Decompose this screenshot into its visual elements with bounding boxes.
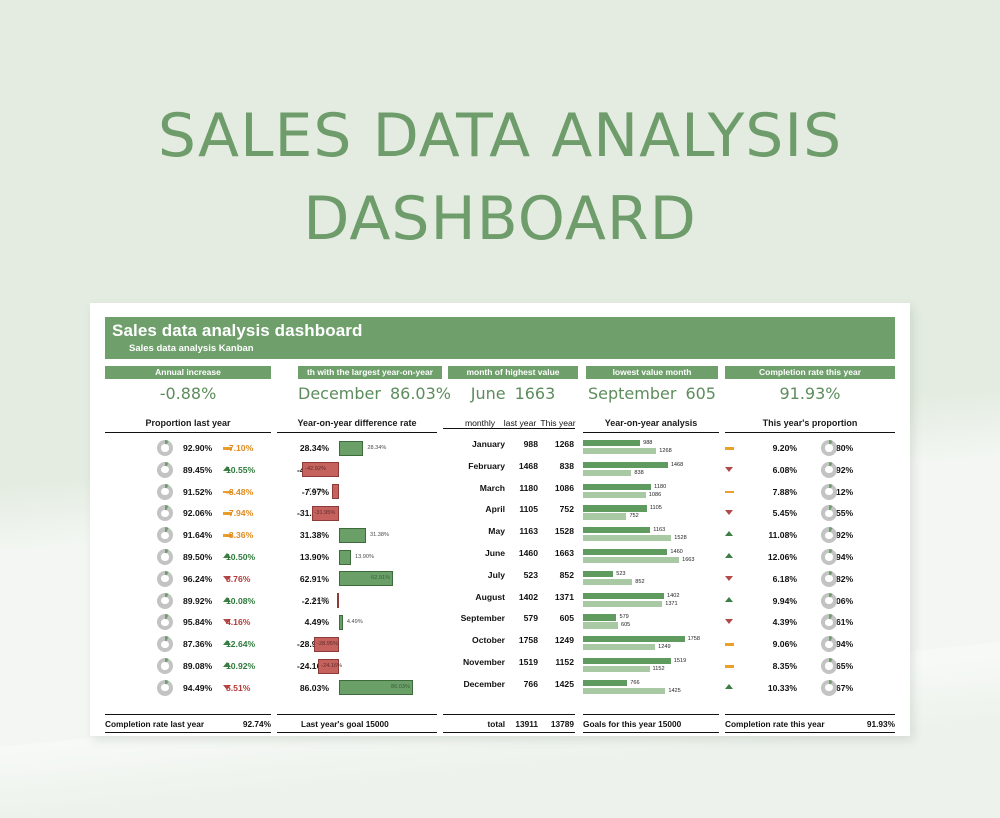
yoy-analysis-bar-label: 1180 — [654, 484, 666, 490]
yoy-analysis-bar-this — [583, 557, 679, 563]
this-year-proportion-value: 6.18% — [749, 574, 797, 584]
yoy-analysis-bar-label: 752 — [629, 513, 638, 519]
proportion-last-year-delta: 4.16% — [226, 617, 250, 627]
kpi-label-4: Completion rate this year — [725, 366, 895, 379]
yoy-analysis-bar-this — [583, 492, 646, 498]
yoy-analysis-bar-last — [583, 614, 616, 620]
footer-cell-completion-last-year: Completion rate last year92.74% — [105, 714, 271, 733]
kpi-label-3: lowest value month — [586, 366, 718, 379]
proportion-last-year-value: 96.24% — [183, 574, 212, 584]
proportion-last-year-value: 89.92% — [183, 596, 212, 606]
this-year-proportion-value: 6.08% — [749, 465, 797, 475]
yoy-analysis-bar-last — [583, 462, 668, 468]
proportion-last-year-value: 92.90% — [183, 443, 212, 453]
kpi-card-4: Completion rate this year91.93% — [725, 366, 895, 403]
table-cell-last-year: 766 — [505, 679, 538, 689]
table-cell-month: December — [443, 679, 505, 689]
flat-dash-icon — [725, 447, 734, 450]
kpi-row: Annual increase-0.88%th with the largest… — [105, 366, 895, 411]
kpi-value-1: December86.03% — [298, 384, 442, 403]
trend-down-icon — [725, 619, 733, 624]
yoy-analysis-bar-this — [583, 470, 631, 476]
footer-completion-this-year-value: 91.93% — [835, 719, 895, 729]
yoy-analysis-bar-label: 1468 — [671, 462, 683, 468]
table-cell-last-year: 1519 — [505, 657, 538, 667]
footer-last-year-goal-label: Last year's goal 15000 — [301, 719, 389, 729]
panel-monthly-table: monthlylast yearThis year January9881268… — [443, 417, 575, 695]
yoy-analysis-bar-label: 838 — [634, 470, 643, 476]
kpi-card-0: Annual increase-0.88% — [105, 366, 271, 403]
panel-proportion-last-year: Proportion last year 92.90%-7.10%89.45%1… — [105, 417, 271, 699]
proportion-last-year-delta: 3.76% — [226, 574, 250, 584]
page-title-line-1: SALES DATA ANALYSIS — [0, 95, 1000, 178]
donut-gauge-this-year — [821, 440, 837, 456]
yoy-rate-bar-label: 28.34% — [367, 441, 386, 456]
dashboard-header: Sales data analysis dashboard Sales data… — [105, 317, 895, 359]
yoy-analysis-bar-label: 605 — [621, 622, 630, 628]
table-cell-this-year: 605 — [541, 613, 574, 623]
donut-gauge-this-year — [821, 658, 837, 674]
donut-gauge-this-year — [821, 680, 837, 696]
yoy-rate-bar-label: -7.97% — [306, 484, 324, 499]
table-cell-last-year: 1163 — [505, 526, 538, 536]
trend-up-icon — [725, 553, 733, 558]
yoy-rate-value: 86.03% — [277, 683, 329, 693]
yoy-rate-value: 31.38% — [277, 530, 329, 540]
flat-dash-icon — [725, 665, 734, 668]
table-cell-last-year: 523 — [505, 570, 538, 580]
donut-gauge-this-year — [821, 484, 837, 500]
panel-title-this-year-proportion: This year's proportion — [725, 417, 895, 433]
dashboard-card: Sales data analysis dashboard Sales data… — [90, 303, 910, 736]
panel-title-proportion-last-year: Proportion last year — [105, 417, 271, 433]
table-cell-month: May — [443, 526, 505, 536]
yoy-analysis-bar-label: 766 — [630, 680, 639, 686]
donut-gauge-last-year — [157, 614, 173, 630]
yoy-analysis-bar-label: 1086 — [649, 492, 661, 498]
footer-cell-completion-this-year: Completion rate this year91.93% — [725, 714, 895, 733]
donut-gauge-this-year — [821, 462, 837, 478]
footer-total-label: total — [443, 719, 505, 729]
this-year-proportion-value: 7.88% — [749, 487, 797, 497]
proportion-last-year-delta: 10.50% — [226, 552, 255, 562]
yoy-analysis-bar-this — [583, 579, 632, 585]
yoy-analysis-bar-this — [583, 666, 650, 672]
yoy-analysis-bar-label: 852 — [635, 579, 644, 585]
yoy-analysis-bar-last — [583, 680, 627, 686]
dashboard-heading: Sales data analysis dashboard — [112, 320, 895, 342]
yoy-analysis-bar-this — [583, 688, 665, 694]
table-cell-this-year: 1425 — [541, 679, 574, 689]
monthly-table-header: last year — [501, 417, 539, 429]
table-cell-this-year: 838 — [541, 461, 574, 471]
trend-up-icon — [725, 684, 733, 689]
table-cell-month: September — [443, 613, 505, 623]
proportion-last-year-delta: 5.51% — [226, 683, 250, 693]
yoy-rate-bar — [339, 550, 351, 565]
yoy-analysis-bar-label: 1371 — [665, 601, 677, 607]
donut-gauge-last-year — [157, 484, 173, 500]
yoy-rate-bar-label: -24.16% — [321, 659, 342, 674]
panel-title-yoy-analysis: Year-on-year analysis — [583, 417, 719, 433]
table-cell-last-year: 579 — [505, 613, 538, 623]
proportion-last-year-value: 89.50% — [183, 552, 212, 562]
this-year-proportion-value: 11.08% — [749, 530, 797, 540]
kpi-card-3: lowest value monthSeptember605 — [586, 366, 718, 403]
yoy-rate-value: 4.49% — [277, 617, 329, 627]
this-year-proportion-value: 9.94% — [749, 596, 797, 606]
page-title: SALES DATA ANALYSIS DASHBOARD — [0, 95, 1000, 261]
yoy-rate-value: 13.90% — [277, 552, 329, 562]
panel-yoy-analysis: Year-on-year analysis 988126814688381180… — [583, 417, 719, 699]
donut-gauge-this-year — [821, 636, 837, 652]
yoy-analysis-bar-this — [583, 513, 626, 519]
this-year-proportion-value: 8.35% — [749, 661, 797, 671]
donut-gauge-this-year — [821, 571, 837, 587]
kpi-card-1: th with the largest year-on-yearDecember… — [298, 366, 442, 403]
yoy-rate-value: 28.34% — [277, 443, 329, 453]
kpi-value-4: 91.93% — [725, 384, 895, 403]
yoy-rate-bar-label: -2.21% — [311, 593, 329, 608]
trend-up-icon — [725, 531, 733, 536]
proportion-last-year-delta: -8.36% — [226, 530, 253, 540]
yoy-rate-bar-label: 13.90% — [355, 550, 374, 565]
yoy-rate-bar — [339, 615, 343, 630]
yoy-analysis-bar-last — [583, 527, 650, 533]
proportion-last-year-delta: 12.64% — [226, 639, 255, 649]
kpi-label-1: th with the largest year-on-year — [298, 366, 442, 379]
table-cell-this-year: 852 — [541, 570, 574, 580]
yoy-analysis-bar-last — [583, 571, 613, 577]
footer-completion-last-year-value: 92.74% — [215, 719, 271, 729]
donut-gauge-this-year — [821, 549, 837, 565]
footer-cell-last-year-goal: Last year's goal 15000 — [277, 714, 437, 733]
yoy-analysis-bar-label: 579 — [619, 614, 628, 620]
yoy-rate-bar — [339, 441, 363, 456]
donut-gauge-last-year — [157, 680, 173, 696]
donut-gauge-last-year — [157, 462, 173, 478]
this-year-proportion-value: 4.39% — [749, 617, 797, 627]
table-cell-month: June — [443, 548, 505, 558]
yoy-analysis-bar-this — [583, 644, 655, 650]
yoy-rate-bar-label: -28.95% — [317, 637, 338, 652]
table-cell-last-year: 1180 — [505, 483, 538, 493]
yoy-analysis-bar-label: 1758 — [688, 636, 700, 642]
flat-dash-icon — [725, 491, 734, 494]
footer-total-last-year: 13911 — [505, 719, 538, 729]
trend-up-icon — [725, 597, 733, 602]
dashboard-subheading: Sales data analysis Kanban — [112, 342, 895, 355]
yoy-analysis-bar-last — [583, 484, 651, 490]
table-cell-this-year: 1086 — [541, 483, 574, 493]
footer-completion-last-year-label: Completion rate last year — [105, 719, 204, 729]
yoy-analysis-bar-label: 1268 — [659, 448, 671, 454]
footer-completion-this-year-label: Completion rate this year — [725, 719, 825, 729]
donut-gauge-last-year — [157, 658, 173, 674]
trend-down-icon — [725, 467, 733, 472]
proportion-last-year-delta: 10.92% — [226, 661, 255, 671]
proportion-last-year-delta: -8.48% — [226, 487, 253, 497]
yoy-analysis-bar-label: 1663 — [682, 557, 694, 563]
table-cell-last-year: 1402 — [505, 592, 538, 602]
yoy-analysis-bar-last — [583, 636, 685, 642]
kpi-card-2: month of highest valueJune1663 — [448, 366, 578, 403]
proportion-last-year-value: 87.36% — [183, 639, 212, 649]
yoy-analysis-bar-last — [583, 593, 664, 599]
table-cell-this-year: 752 — [541, 504, 574, 514]
yoy-analysis-bar-label: 1460 — [670, 549, 682, 555]
table-cell-this-year: 1249 — [541, 635, 574, 645]
kpi-value-0: -0.88% — [105, 384, 271, 403]
yoy-analysis-bar-last — [583, 658, 671, 664]
table-cell-this-year: 1268 — [541, 439, 574, 449]
kpi-label-2: month of highest value — [448, 366, 578, 379]
this-year-proportion-value: 10.33% — [749, 683, 797, 693]
proportion-last-year-delta: -7.10% — [226, 443, 253, 453]
yoy-analysis-bar-label: 1425 — [668, 688, 680, 694]
table-cell-this-year: 1371 — [541, 592, 574, 602]
panel-title-yoy-difference-rate: Year-on-year difference rate — [277, 417, 437, 433]
yoy-analysis-bar-this — [583, 535, 671, 541]
this-year-proportion-value: 9.20% — [749, 443, 797, 453]
yoy-rate-bar — [332, 484, 339, 499]
proportion-last-year-value: 91.64% — [183, 530, 212, 540]
panels: Proportion last year 92.90%-7.10%89.45%1… — [105, 417, 895, 712]
yoy-rate-bar-label: 4.49% — [347, 615, 363, 630]
table-cell-month: February — [443, 461, 505, 471]
footer-row: Completion rate last year92.74%Last year… — [105, 714, 895, 733]
table-cell-month: July — [443, 570, 505, 580]
proportion-last-year-value: 92.06% — [183, 508, 212, 518]
yoy-analysis-bar-last — [583, 440, 640, 446]
proportion-last-year-delta: 10.08% — [226, 596, 255, 606]
yoy-analysis-bar-label: 1402 — [667, 593, 679, 599]
panel-yoy-difference-rate: Year-on-year difference rate 28.34%28.34… — [277, 417, 437, 699]
table-cell-month: January — [443, 439, 505, 449]
yoy-rate-bar-label: -31.95% — [315, 506, 336, 521]
yoy-analysis-bar-label: 1528 — [674, 535, 686, 541]
yoy-rate-value: 62.91% — [277, 574, 329, 584]
table-cell-last-year: 988 — [505, 439, 538, 449]
monthly-table-header: This year — [539, 417, 577, 429]
table-cell-this-year: 1528 — [541, 526, 574, 536]
this-year-proportion-value: 12.06% — [749, 552, 797, 562]
yoy-analysis-bar-label: 1249 — [658, 644, 670, 650]
trend-down-icon — [725, 576, 733, 581]
donut-gauge-last-year — [157, 505, 173, 521]
yoy-rate-bar — [339, 528, 366, 543]
donut-gauge-this-year — [821, 614, 837, 630]
yoy-analysis-bar-label: 523 — [616, 571, 625, 577]
this-year-proportion-value: 9.06% — [749, 639, 797, 649]
panel-this-year-proportion: This year's proportion 9.20%90.80%6.08%9… — [725, 417, 895, 699]
proportion-last-year-value: 94.49% — [183, 683, 212, 693]
yoy-analysis-bar-last — [583, 549, 667, 555]
table-cell-month: November — [443, 657, 505, 667]
yoy-analysis-bar-label: 1163 — [653, 527, 665, 533]
proportion-last-year-delta: -7.94% — [226, 508, 253, 518]
yoy-rate-bar-label: 62.91% — [371, 571, 390, 586]
donut-gauge-last-year — [157, 571, 173, 587]
donut-gauge-this-year — [821, 505, 837, 521]
this-year-proportion-value: 5.45% — [749, 508, 797, 518]
footer-goals-this-year-label: Goals for this year 15000 — [583, 719, 681, 729]
table-cell-last-year: 1468 — [505, 461, 538, 471]
donut-gauge-this-year — [821, 593, 837, 609]
table-cell-month: October — [443, 635, 505, 645]
yoy-analysis-bar-label: 1519 — [674, 658, 686, 664]
proportion-last-year-value: 89.08% — [183, 661, 212, 671]
panel-title-monthly-table: monthlylast yearThis year — [443, 417, 575, 429]
kpi-label-0: Annual increase — [105, 366, 271, 379]
footer-total-this-year: 13789 — [541, 719, 574, 729]
table-cell-last-year: 1460 — [505, 548, 538, 558]
table-cell-last-year: 1105 — [505, 504, 538, 514]
donut-gauge-last-year — [157, 440, 173, 456]
yoy-analysis-bar-label: 1152 — [653, 666, 665, 672]
table-cell-month: August — [443, 592, 505, 602]
table-cell-this-year: 1663 — [541, 548, 574, 558]
monthly-table-header: monthly — [455, 417, 505, 429]
table-cell-last-year: 1758 — [505, 635, 538, 645]
donut-gauge-last-year — [157, 593, 173, 609]
kpi-value-3: September605 — [586, 384, 718, 403]
yoy-rate-bar — [337, 593, 339, 608]
footer-cell-total: total1391113789 — [443, 714, 575, 733]
donut-gauge-last-year — [157, 549, 173, 565]
footer-cell-goals-this-year: Goals for this year 15000 — [583, 714, 719, 733]
proportion-last-year-value: 95.84% — [183, 617, 212, 627]
proportion-last-year-delta: 10.55% — [226, 465, 255, 475]
proportion-last-year-value: 91.52% — [183, 487, 212, 497]
yoy-rate-bar-label: 86.03% — [391, 680, 410, 695]
yoy-rate-bar-label: -42.92% — [305, 462, 326, 477]
donut-gauge-this-year — [821, 527, 837, 543]
trend-down-icon — [725, 510, 733, 515]
yoy-analysis-bar-this — [583, 448, 656, 454]
page-title-line-2: DASHBOARD — [0, 178, 1000, 261]
donut-gauge-last-year — [157, 527, 173, 543]
flat-dash-icon — [725, 643, 734, 646]
yoy-analysis-bar-this — [583, 622, 618, 628]
yoy-analysis-bar-last — [583, 505, 647, 511]
table-cell-month: April — [443, 504, 505, 514]
proportion-last-year-value: 89.45% — [183, 465, 212, 475]
yoy-analysis-bar-label: 1105 — [650, 505, 662, 511]
yoy-analysis-bar-this — [583, 601, 662, 607]
yoy-rate-bar-label: 31.38% — [370, 528, 389, 543]
yoy-analysis-bar-label: 988 — [643, 440, 652, 446]
donut-gauge-last-year — [157, 636, 173, 652]
table-cell-this-year: 1152 — [541, 657, 574, 667]
table-cell-month: March — [443, 483, 505, 493]
kpi-value-2: June1663 — [448, 384, 578, 403]
